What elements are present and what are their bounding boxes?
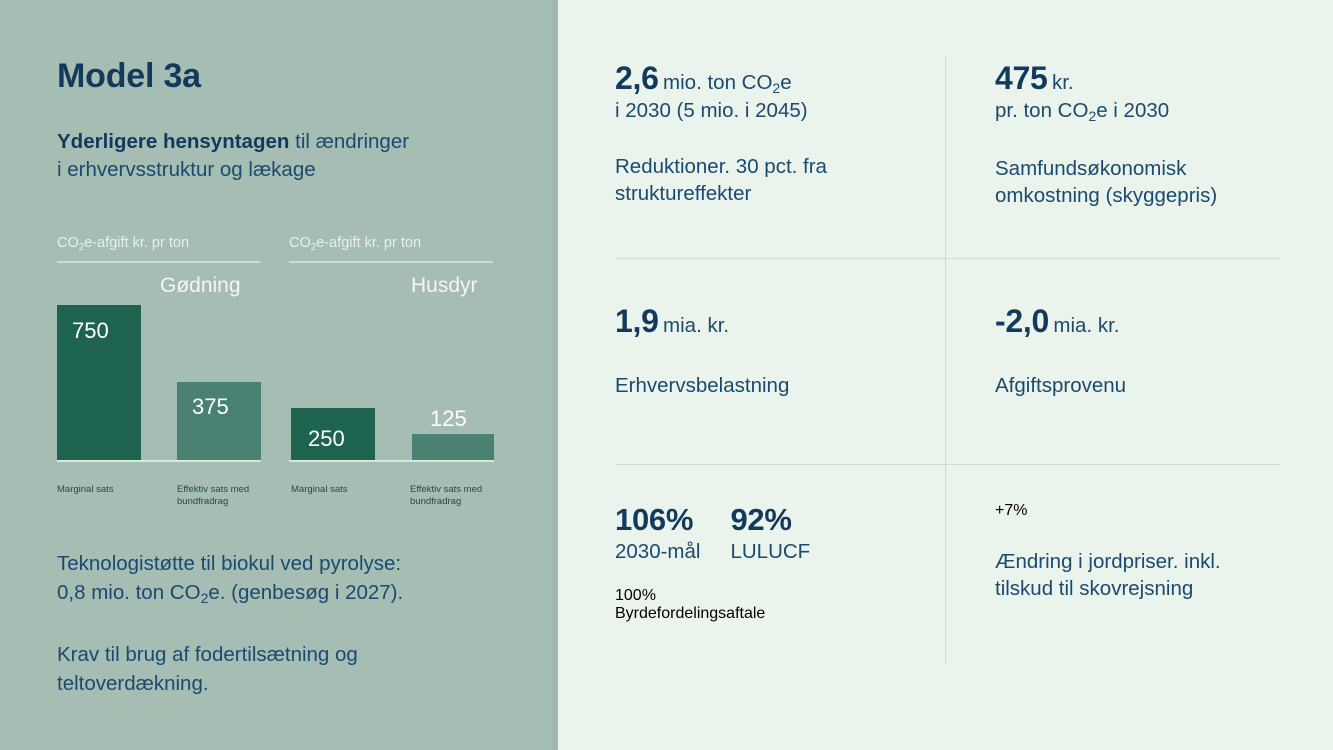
bar-caption-goedning-effektiv: Effektiv sats med bundfradrag bbox=[177, 484, 277, 508]
kpi-landprice-desc-line1: Ændring i jordpriser. inkl. bbox=[995, 550, 1221, 573]
kpi-landprice-desc: Ændring i jordpriser. inkl. tilskud til … bbox=[995, 548, 1221, 602]
kpi-target-lulucf: 92% LULUCF bbox=[730, 502, 810, 565]
chart-group-name-goedning: Gødning bbox=[160, 274, 241, 298]
divider-row-2 bbox=[615, 464, 1280, 465]
bar-caption-husdyr-effektiv: Effektiv sats med bundfradrag bbox=[410, 484, 510, 508]
note-feed: Krav til brug af fodertilsætning og telt… bbox=[57, 640, 537, 698]
kpi-emissions-sub: i 2030 (5 mio. i 2045) bbox=[615, 97, 827, 124]
kpi-target-2030-value: 106% bbox=[615, 502, 700, 538]
note-feed-line1: Krav til brug af fodertilsætning og bbox=[57, 643, 358, 666]
kpi-revenue-desc: Afgiftsprovenu bbox=[995, 372, 1126, 399]
chart-baseline-goedning bbox=[57, 460, 261, 462]
kpi-target-burden-share-value: 100% bbox=[615, 587, 810, 605]
kpi-burden-unit: mia. kr. bbox=[663, 314, 729, 337]
note-pyrolysis: Teknologistøtte til biokul ved pyrolyse:… bbox=[57, 549, 537, 609]
chart-rule-goedning bbox=[57, 261, 260, 263]
chart-axis-label-goedning: CO2e-afgift kr. pr ton bbox=[57, 235, 189, 251]
kpi-burden-headline: 1,9 mia. kr. bbox=[615, 303, 789, 340]
bar-value-375: 375 bbox=[192, 394, 229, 420]
kpi-price-sub: pr. ton CO2e i 2030 bbox=[995, 97, 1217, 126]
infographic-slide: Model 3a Yderligere hensyntagen til ændr… bbox=[0, 0, 1333, 750]
kpi-revenue: -2,0 mia. kr. Afgiftsprovenu bbox=[995, 303, 1126, 399]
right-panel: 2,6 mio. ton CO2e i 2030 (5 mio. i 2045)… bbox=[558, 0, 1333, 750]
kpi-price-unit: kr. bbox=[1052, 71, 1074, 94]
kpi-emissions-desc: Reduktioner. 30 pct. fra struktureffekte… bbox=[615, 153, 827, 207]
divider-column bbox=[945, 55, 946, 665]
note-pyrolysis-line2: 0,8 mio. ton CO2e. (genbesøg i 2027). bbox=[57, 581, 403, 604]
chart-axis-label-husdyr: CO2e-afgift kr. pr ton bbox=[289, 235, 421, 251]
kpi-target-2030-label: 2030-mål bbox=[615, 538, 700, 565]
kpi-price-desc-line1: Samfundsøkonomisk bbox=[995, 157, 1186, 180]
bar-value-125: 125 bbox=[430, 406, 467, 432]
kpi-target-lulucf-label: LULUCF bbox=[730, 538, 810, 565]
kpi-landprice-value: +7% bbox=[995, 502, 1221, 520]
kpi-revenue-unit: mia. kr. bbox=[1053, 314, 1119, 337]
kpi-burden-desc: Erhvervsbelastning bbox=[615, 372, 789, 399]
kpi-emissions-headline: 2,6 mio. ton CO2e bbox=[615, 60, 827, 97]
note-pyrolysis-line1: Teknologistøtte til biokul ved pyrolyse: bbox=[57, 552, 401, 575]
kpi-price-desc: Samfundsøkonomisk omkostning (skyggepris… bbox=[995, 155, 1217, 209]
kpi-targets-row: 106% 2030-mål 92% LULUCF bbox=[615, 502, 810, 565]
kpi-landprice: +7% Ændring i jordpriser. inkl. tilskud … bbox=[995, 502, 1221, 602]
kpi-target-burden-share-label: Byrdefordelingsaftale bbox=[615, 605, 810, 623]
kpi-targets: 106% 2030-mål 92% LULUCF 100% Byrdeforde… bbox=[615, 502, 810, 623]
note-feed-line2: teltoverdækning. bbox=[57, 672, 209, 695]
bar-chart: CO2e-afgift kr. pr ton Gødning 750 Margi… bbox=[0, 0, 558, 750]
kpi-price-headline: 475 kr. bbox=[995, 60, 1217, 97]
kpi-emissions-desc-line2: struktureffekter bbox=[615, 182, 751, 205]
kpi-target-2030: 106% 2030-mål bbox=[615, 502, 700, 565]
bar-husdyr-effektiv bbox=[412, 434, 494, 460]
chart-baseline-husdyr bbox=[289, 460, 494, 462]
kpi-price: 475 kr. pr. ton CO2e i 2030 Samfundsøkon… bbox=[995, 60, 1217, 209]
kpi-burden-value: 1,9 bbox=[615, 303, 659, 339]
kpi-emissions-value: 2,6 bbox=[615, 60, 659, 96]
divider-row-1 bbox=[615, 258, 1280, 259]
kpi-emissions-desc-line1: Reduktioner. 30 pct. fra bbox=[615, 155, 827, 178]
bar-caption-goedning-marginal: Marginal sats bbox=[57, 484, 152, 496]
kpi-revenue-value: -2,0 bbox=[995, 303, 1049, 339]
kpi-landprice-desc-line2: tilskud til skovrejsning bbox=[995, 577, 1193, 600]
kpi-price-value: 475 bbox=[995, 60, 1048, 96]
chart-group-name-husdyr: Husdyr bbox=[411, 274, 478, 298]
kpi-emissions: 2,6 mio. ton CO2e i 2030 (5 mio. i 2045)… bbox=[615, 60, 827, 207]
kpi-revenue-headline: -2,0 mia. kr. bbox=[995, 303, 1126, 340]
kpi-target-burden-share: 100% Byrdefordelingsaftale bbox=[615, 587, 810, 623]
kpi-target-lulucf-value: 92% bbox=[730, 502, 810, 538]
bar-caption-husdyr-marginal: Marginal sats bbox=[291, 484, 386, 496]
chart-rule-husdyr bbox=[289, 261, 493, 263]
bar-value-750: 750 bbox=[72, 318, 109, 344]
kpi-burden: 1,9 mia. kr. Erhvervsbelastning bbox=[615, 303, 789, 399]
kpi-price-desc-line2: omkostning (skyggepris) bbox=[995, 184, 1217, 207]
bar-value-250: 250 bbox=[308, 426, 345, 452]
kpi-emissions-unit: mio. ton CO2e bbox=[663, 71, 792, 94]
